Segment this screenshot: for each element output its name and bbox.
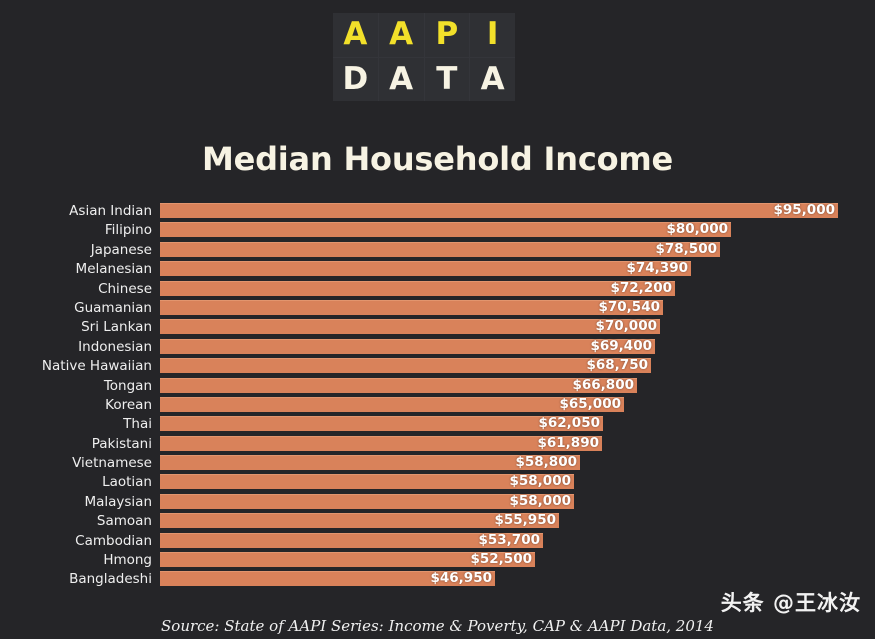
bar [160, 397, 624, 412]
logo-letter: T [425, 58, 470, 102]
category-label: Malaysian [0, 493, 152, 512]
bar-container: $80,000 [160, 222, 731, 237]
bar [160, 281, 675, 296]
bar-value-label: $78,500 [656, 242, 718, 257]
category-label: Samoan [0, 512, 152, 531]
category-label: Guamanian [0, 299, 152, 318]
chart-title: Median Household Income [0, 140, 875, 178]
bar-value-label: $55,950 [495, 513, 557, 528]
bar-row: Laotian$58,000 [0, 473, 875, 492]
category-label: Tongan [0, 377, 152, 396]
bar-row: Korean$65,000 [0, 396, 875, 415]
bar-value-label: $58,000 [510, 494, 572, 509]
bar [160, 300, 663, 315]
category-label: Native Hawaiian [0, 357, 152, 376]
category-label: Filipino [0, 221, 152, 240]
bar-container: $55,950 [160, 513, 559, 528]
bar-row: Guamanian$70,540 [0, 299, 875, 318]
logo-letter: P [425, 13, 470, 57]
bar-row: Native Hawaiian$68,750 [0, 357, 875, 376]
bar-row: Pakistani$61,890 [0, 435, 875, 454]
bar-container: $58,000 [160, 474, 574, 489]
bar [160, 358, 651, 373]
bar-value-label: $70,540 [599, 300, 661, 315]
bar-container: $53,700 [160, 533, 543, 548]
category-label: Pakistani [0, 435, 152, 454]
logo-letter: A [333, 13, 378, 57]
bar-row: Asian Indian$95,000 [0, 202, 875, 221]
bar [160, 261, 691, 276]
bar-container: $68,750 [160, 358, 651, 373]
bar [160, 319, 660, 334]
bar [160, 378, 637, 393]
bar-value-label: $52,500 [471, 552, 533, 567]
category-label: Chinese [0, 280, 152, 299]
bar-value-label: $53,700 [479, 533, 541, 548]
bar-row: Vietnamese$58,800 [0, 454, 875, 473]
bar-value-label: $70,000 [596, 319, 658, 334]
category-label: Hmong [0, 551, 152, 570]
category-label: Asian Indian [0, 202, 152, 221]
logo-letter: I [470, 13, 515, 57]
bar-container: $69,400 [160, 339, 655, 354]
bar-value-label: $61,890 [538, 436, 600, 451]
bar-container: $52,500 [160, 552, 535, 567]
source-note: Source: State of AAPI Series: Income & P… [0, 617, 875, 635]
bar-container: $58,800 [160, 455, 580, 470]
bar-row: Hmong$52,500 [0, 551, 875, 570]
bar-container: $95,000 [160, 203, 838, 218]
bar-container: $58,000 [160, 494, 574, 509]
bar-row: Tongan$66,800 [0, 377, 875, 396]
category-label: Cambodian [0, 532, 152, 551]
bar-value-label: $66,800 [573, 378, 635, 393]
bar-container: $65,000 [160, 397, 624, 412]
bar [160, 416, 603, 431]
bar-row: Filipino$80,000 [0, 221, 875, 240]
bar-value-label: $69,400 [591, 339, 653, 354]
bar-container: $62,050 [160, 416, 603, 431]
category-label: Vietnamese [0, 454, 152, 473]
bar-container: $72,200 [160, 281, 675, 296]
bar-container: $61,890 [160, 436, 602, 451]
bar-container: $74,390 [160, 261, 691, 276]
category-label: Indonesian [0, 338, 152, 357]
category-label: Bangladeshi [0, 570, 152, 589]
logo-letter: A [379, 58, 424, 102]
bar-row: Samoan$55,950 [0, 512, 875, 531]
bar-value-label: $65,000 [560, 397, 622, 412]
category-label: Laotian [0, 473, 152, 492]
bar-row: Cambodian$53,700 [0, 532, 875, 551]
category-label: Thai [0, 415, 152, 434]
bar-row: Thai$62,050 [0, 415, 875, 434]
bar-row: Melanesian$74,390 [0, 260, 875, 279]
bar-value-label: $80,000 [667, 222, 729, 237]
bar-value-label: $62,050 [539, 416, 601, 431]
bar-row: Malaysian$58,000 [0, 493, 875, 512]
bar-row: Indonesian$69,400 [0, 338, 875, 357]
bar [160, 339, 655, 354]
bar-row: Chinese$72,200 [0, 280, 875, 299]
aapi-data-logo: A A P I D A T A [333, 13, 515, 101]
bar [160, 436, 602, 451]
bar [160, 222, 731, 237]
bar-container: $78,500 [160, 242, 720, 257]
logo-letter: A [379, 13, 424, 57]
bar-container: $70,540 [160, 300, 663, 315]
category-label: Japanese [0, 241, 152, 260]
bar-container: $66,800 [160, 378, 637, 393]
bar-value-label: $68,750 [587, 358, 649, 373]
bar-chart-plot-area: Asian Indian$95,000Filipino$80,000Japane… [0, 202, 875, 594]
bar-value-label: $95,000 [774, 203, 836, 218]
bar-row: Sri Lankan$70,000 [0, 318, 875, 337]
bar-value-label: $72,200 [611, 281, 673, 296]
bar [160, 203, 838, 218]
bar-container: $46,950 [160, 571, 495, 586]
bar-value-label: $58,800 [516, 455, 578, 470]
category-label: Korean [0, 396, 152, 415]
bar-container: $70,000 [160, 319, 660, 334]
category-label: Sri Lankan [0, 318, 152, 337]
watermark: 头条 @王冰汝 [721, 587, 861, 617]
bar-value-label: $46,950 [431, 571, 493, 586]
logo-letter: A [470, 58, 515, 102]
bar [160, 242, 720, 257]
logo-letter: D [333, 58, 378, 102]
bar-row: Japanese$78,500 [0, 241, 875, 260]
bar-value-label: $58,000 [510, 474, 572, 489]
bar-value-label: $74,390 [627, 261, 689, 276]
category-label: Melanesian [0, 260, 152, 279]
